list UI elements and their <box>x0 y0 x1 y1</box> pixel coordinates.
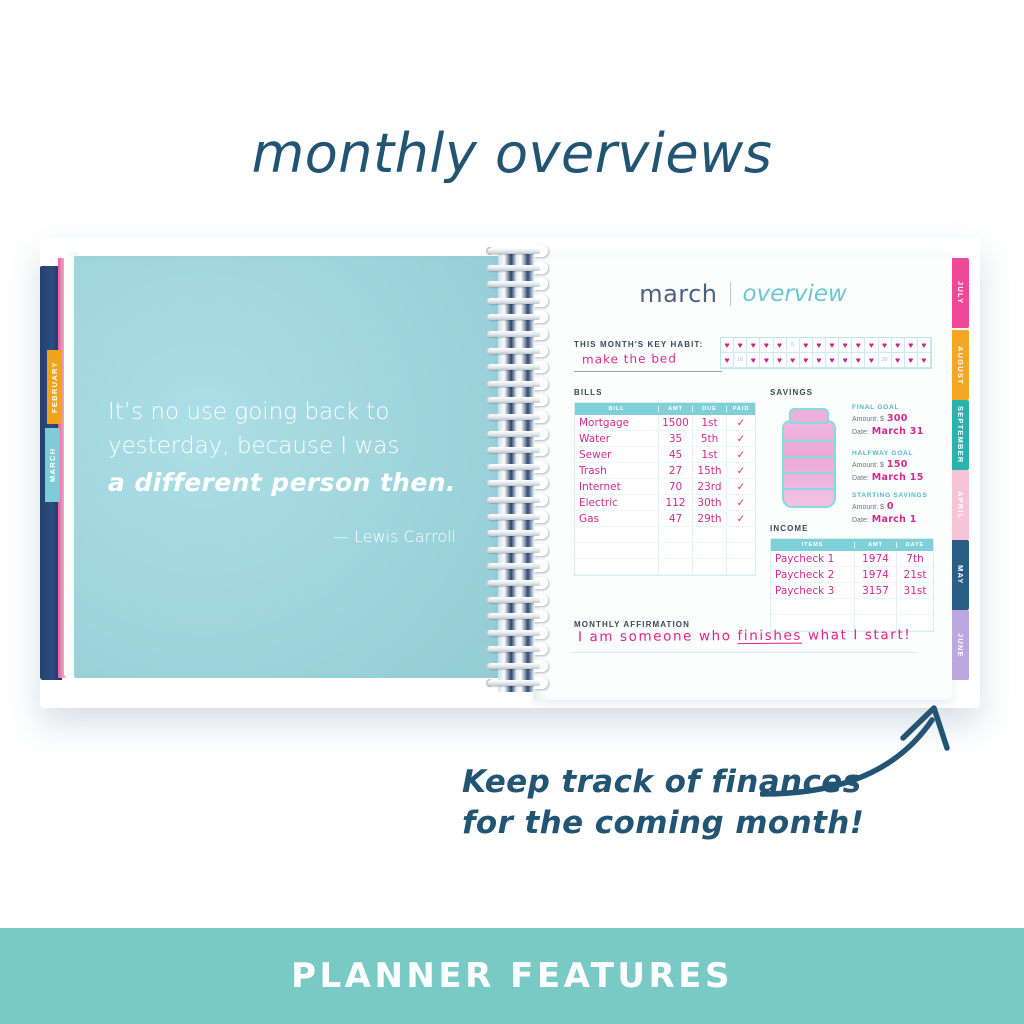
habit-cell[interactable]: ♥ <box>905 353 918 368</box>
habit-cell[interactable]: ♥ <box>747 353 760 368</box>
savings-jar-icon <box>778 406 840 510</box>
income-date: 21st <box>897 567 933 582</box>
heart-icon: ♥ <box>856 356 861 365</box>
bill-paid-check[interactable]: ✓ <box>727 447 755 462</box>
spiral-loop <box>486 512 554 522</box>
heart-icon: ♥ <box>738 341 743 350</box>
goal-title: STARTING SAVINGS <box>852 492 927 499</box>
income-item: Paycheck 3 <box>771 583 855 598</box>
bills-header-row: BILLAMTDUEPAID <box>575 403 755 415</box>
habit-cell[interactable]: ♥ <box>813 353 826 368</box>
spiral-loop <box>486 561 554 571</box>
bill-name: Internet <box>575 479 659 494</box>
bills-col-bill: BILL <box>575 406 659 412</box>
habit-cell[interactable]: ♥ <box>760 353 773 368</box>
bill-name: Electric <box>575 495 659 510</box>
income-section-label: INCOME <box>770 524 809 533</box>
savings-goal-block: STARTING SAVINGSAmount: $0Date:March 1 <box>852 492 927 525</box>
table-row[interactable]: Electric11230th✓ <box>575 495 755 511</box>
income-col-date: DATE <box>897 542 933 548</box>
habit-cell[interactable]: ♥ <box>787 353 800 368</box>
heart-icon: ♥ <box>869 356 874 365</box>
habit-tracker-grid[interactable]: ♥♥♥♥♥6♥♥♥♥♥♥♥♥♥♥♥16♥♥♥♥♥♥♥♥♥♥28♥♥♥ <box>720 337 932 369</box>
spiral-loop <box>486 528 554 538</box>
bill-amount: 1500 <box>659 415 693 430</box>
income-amount: 1974 <box>855 567 897 582</box>
bill-paid-check[interactable]: ✓ <box>727 431 755 446</box>
table-row[interactable]: Sewer451st✓ <box>575 447 755 463</box>
habit-cell[interactable]: 16 <box>734 353 747 368</box>
heart-icon: ♥ <box>803 341 808 350</box>
habit-cell[interactable]: ♥ <box>852 338 865 353</box>
income-amount: 1974 <box>855 551 897 566</box>
spiral-loop <box>486 412 554 422</box>
quote-author: — Lewis Carroll <box>108 527 468 546</box>
month-tab-july[interactable]: JULY <box>952 258 969 328</box>
heart-icon: ♥ <box>764 341 769 350</box>
quote-page: It’s no use going back to yesterday, bec… <box>74 256 504 678</box>
heart-icon: ♥ <box>921 341 926 350</box>
habit-cell[interactable]: ♥ <box>747 338 760 353</box>
heart-icon: ♥ <box>725 356 730 365</box>
quote-line-3: a different person then. <box>108 468 468 497</box>
spiral-loop <box>486 346 554 356</box>
habit-cell[interactable]: ♥ <box>800 353 813 368</box>
heart-icon: ♥ <box>921 356 926 365</box>
bill-name: Sewer <box>575 447 659 462</box>
table-row[interactable]: Paycheck 119747th <box>771 551 933 567</box>
bill-due: 1st <box>693 447 727 462</box>
spiral-loop <box>486 429 554 439</box>
savings-goal-block: FINAL GOALAmount: $300Date:March 31 <box>852 404 924 437</box>
affirmation-part-1: I am someone who <box>578 628 738 645</box>
habit-cell[interactable]: ♥ <box>721 353 734 368</box>
spiral-loop <box>486 362 554 372</box>
spiral-loop <box>486 628 554 638</box>
bill-name: Mortgage <box>575 415 659 430</box>
habit-cell[interactable]: ♥ <box>852 353 865 368</box>
bill-paid-check[interactable]: ✓ <box>727 495 755 510</box>
affirmation-underline <box>572 652 916 653</box>
table-row[interactable]: Paycheck 2197421st <box>771 567 933 583</box>
table-row-empty[interactable]: .... <box>575 527 755 543</box>
key-habit-label: THIS MONTH'S KEY HABIT: <box>574 340 703 349</box>
heart-icon: ♥ <box>856 341 861 350</box>
heart-icon: ♥ <box>843 341 848 350</box>
spiral-loop <box>486 644 554 654</box>
heart-icon: ♥ <box>908 356 913 365</box>
spiral-loop <box>486 545 554 555</box>
habit-cell[interactable]: ♥ <box>760 338 773 353</box>
month-tab-march[interactable]: MARCH <box>45 428 60 502</box>
spiral-loop <box>486 678 554 688</box>
table-row[interactable]: Mortgage15001st✓ <box>575 415 755 431</box>
goal-amount-row[interactable]: Amount: $0 <box>852 501 927 512</box>
bills-section-label: BILLS <box>574 388 603 397</box>
bill-paid-check[interactable]: ✓ <box>727 463 755 478</box>
quote-line-1: It’s no use going back to <box>108 396 468 430</box>
savings-goal-block: HALFWAY GOALAmount: $150Date:March 15 <box>852 450 924 483</box>
bills-col-paid: PAID <box>727 406 755 412</box>
spiral-loop <box>486 611 554 621</box>
spiral-loop <box>486 661 554 671</box>
header-overview: overview <box>743 281 847 307</box>
habit-cell[interactable]: ♥ <box>865 353 878 368</box>
heart-icon: ♥ <box>843 356 848 365</box>
habit-cell[interactable]: ♥ <box>721 338 734 353</box>
table-row[interactable]: Gas4729th✓ <box>575 511 755 527</box>
overview-page: march overview THIS MONTH'S KEY HABIT: m… <box>534 254 952 700</box>
spiral-loop <box>486 478 554 488</box>
spiral-loop <box>486 395 554 405</box>
bill-name: Gas <box>575 511 659 526</box>
poster-canvas: monthly overviews FEBRUARY MARCH It’s no… <box>0 0 1024 1024</box>
spiral-loop <box>486 595 554 605</box>
habit-cell[interactable]: ♥ <box>774 353 787 368</box>
bill-due: 15th <box>693 463 727 478</box>
bill-name: Water <box>575 431 659 446</box>
bill-amount: 45 <box>659 447 693 462</box>
table-row[interactable]: Paycheck 3315731st <box>771 583 933 599</box>
habit-cell[interactable]: ♥ <box>918 353 931 368</box>
month-tab-june[interactable]: JUNE <box>952 610 969 680</box>
goal-date-row[interactable]: Date:March 31 <box>852 426 924 437</box>
affirmation-underlined-word: finishes <box>737 628 802 644</box>
heart-icon: ♥ <box>725 341 730 350</box>
habit-cell[interactable]: ♥ <box>839 338 852 353</box>
habit-cell[interactable]: 28 <box>879 353 892 368</box>
habit-cell[interactable]: ♥ <box>865 338 878 353</box>
header-divider <box>730 282 731 306</box>
bill-amount: 70 <box>659 479 693 494</box>
income-col-amt: AMT <box>855 542 897 548</box>
table-row-empty[interactable]: .... <box>575 559 755 575</box>
heart-icon: ♥ <box>830 341 835 350</box>
bill-amount: 35 <box>659 431 693 446</box>
habit-cell[interactable]: ♥ <box>892 338 905 353</box>
income-col-items: ITEMS <box>771 542 855 548</box>
income-header-row: ITEMSAMTDATE <box>771 539 933 551</box>
bill-due: 29th <box>693 511 727 526</box>
caption-line-1: Keep track of finances <box>462 762 892 803</box>
savings-section-label: SAVINGS <box>770 388 813 397</box>
spiral-loop <box>486 329 554 339</box>
habit-cell[interactable]: ♥ <box>892 353 905 368</box>
banner-text: PLANNER FEATURES <box>291 956 733 996</box>
spiral-loop <box>486 312 554 322</box>
heart-icon: ♥ <box>895 341 900 350</box>
heart-icon: ♥ <box>790 356 795 365</box>
table-row[interactable]: Trash2715th✓ <box>575 463 755 479</box>
habit-cell[interactable]: ♥ <box>918 338 931 353</box>
goal-amount-row[interactable]: Amount: $300 <box>852 413 924 424</box>
habit-cell[interactable]: ♥ <box>826 353 839 368</box>
habit-cell[interactable]: ♥ <box>905 338 918 353</box>
affirmation-value[interactable]: I am someone who finishes what I start! <box>578 627 922 645</box>
table-row-empty[interactable]: .... <box>575 543 755 559</box>
quote-line-2: yesterday, because I was <box>108 430 468 464</box>
bill-due: 5th <box>693 431 727 446</box>
spiral-loop <box>486 445 554 455</box>
key-habit-value[interactable]: make the bed <box>582 351 677 366</box>
bill-name: Trash <box>575 463 659 478</box>
income-date: 31st <box>897 583 933 598</box>
heart-icon: ♥ <box>777 341 782 350</box>
heart-icon: ♥ <box>830 356 835 365</box>
spiral-loop <box>486 379 554 389</box>
table-row[interactable]: Water355th✓ <box>575 431 755 447</box>
habit-cell[interactable]: ♥ <box>800 338 813 353</box>
bill-due: 23rd <box>693 479 727 494</box>
heart-icon: ♥ <box>803 356 808 365</box>
heart-icon: ♥ <box>816 341 821 350</box>
income-date: 7th <box>897 551 933 566</box>
bill-paid-check[interactable]: ✓ <box>727 415 755 430</box>
habit-cell[interactable]: ♥ <box>813 338 826 353</box>
table-row[interactable]: Internet7023rd✓ <box>575 479 755 495</box>
heart-icon: ♥ <box>882 341 887 350</box>
heart-icon: ♥ <box>777 356 782 365</box>
goal-title: FINAL GOAL <box>852 404 924 411</box>
bottom-banner: PLANNER FEATURES <box>0 928 1024 1024</box>
spiral-loop <box>486 263 554 273</box>
spiral-loop <box>486 462 554 472</box>
spiral-loop <box>486 246 554 256</box>
spiral-coil <box>486 246 556 694</box>
bill-due: 30th <box>693 495 727 510</box>
page-title: monthly overviews <box>0 122 1024 185</box>
habit-cell[interactable]: ♥ <box>826 338 839 353</box>
bill-paid-check[interactable]: ✓ <box>727 479 755 494</box>
bills-table[interactable]: BILLAMTDUEPAIDMortgage15001st✓Water355th… <box>574 402 756 576</box>
habit-cell[interactable]: ♥ <box>839 353 852 368</box>
quote-block: It’s no use going back to yesterday, bec… <box>108 396 468 546</box>
table-row-empty[interactable]: ... <box>771 599 933 615</box>
month-tab-august[interactable]: AUGUST <box>952 330 969 400</box>
caption-line-2: for the coming month! <box>462 803 892 844</box>
feature-caption: Keep track of finances for the coming mo… <box>462 762 892 844</box>
heart-icon: ♥ <box>908 341 913 350</box>
bills-col-due: DUE <box>693 406 727 412</box>
habit-cell[interactable]: 6 <box>787 338 800 353</box>
month-tab-september[interactable]: SEPTEMBER <box>952 400 969 470</box>
goal-date-row[interactable]: Date:March 15 <box>852 472 924 483</box>
income-item: Paycheck 1 <box>771 551 855 566</box>
month-tab-february[interactable]: FEBRUARY <box>47 350 62 424</box>
habit-cell[interactable]: ♥ <box>879 338 892 353</box>
bills-col-amt: AMT <box>659 406 693 412</box>
heart-icon: ♥ <box>816 356 821 365</box>
bill-amount: 47 <box>659 511 693 526</box>
bill-amount: 27 <box>659 463 693 478</box>
overview-header: march overview <box>534 280 952 308</box>
habit-cell[interactable]: ♥ <box>734 338 747 353</box>
bill-paid-check[interactable]: ✓ <box>727 511 755 526</box>
income-table[interactable]: ITEMSAMTDATEPaycheck 119747thPaycheck 21… <box>770 538 934 632</box>
bill-due: 1st <box>693 415 727 430</box>
heart-icon: ♥ <box>751 341 756 350</box>
income-item: Paycheck 2 <box>771 567 855 582</box>
spiral-loop <box>486 279 554 289</box>
heart-icon: ♥ <box>895 356 900 365</box>
spiral-loop <box>486 296 554 306</box>
heart-icon: ♥ <box>869 341 874 350</box>
goal-amount-row[interactable]: Amount: $150 <box>852 459 924 470</box>
header-month: march <box>639 280 717 308</box>
habit-cell[interactable]: ♥ <box>774 338 787 353</box>
month-tab-april[interactable]: APRIL <box>952 470 969 540</box>
goal-title: HALFWAY GOAL <box>852 450 924 457</box>
heart-icon: ♥ <box>764 356 769 365</box>
spiral-loop <box>486 578 554 588</box>
goal-date-row[interactable]: Date:March 1 <box>852 514 927 525</box>
heart-icon: ♥ <box>751 356 756 365</box>
affirmation-part-2: what I start! <box>802 627 911 644</box>
bill-amount: 112 <box>659 495 693 510</box>
spiral-loop <box>486 495 554 505</box>
income-amount: 3157 <box>855 583 897 598</box>
month-tab-may[interactable]: MAY <box>952 540 969 610</box>
